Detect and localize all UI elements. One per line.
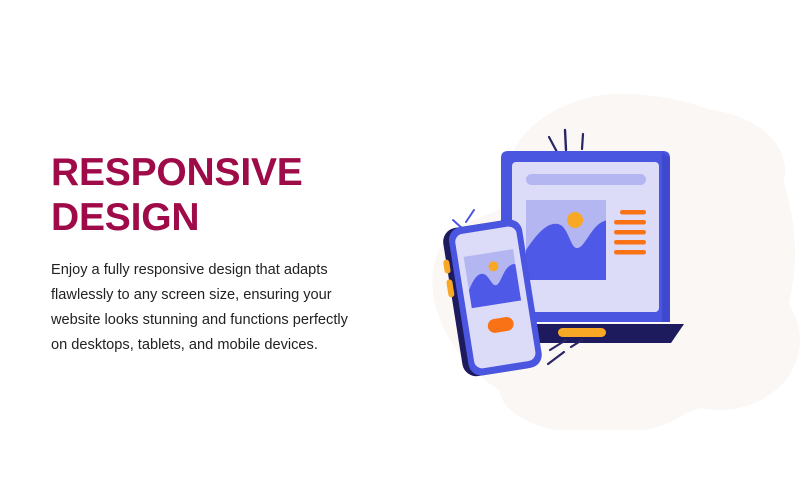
responsive-devices-illustration: [430, 100, 740, 390]
hero-description: Enjoy a fully responsive design that ada…: [51, 258, 363, 358]
sparkle-lines-top: [549, 130, 583, 152]
sparkle-lines-bottom: [548, 340, 582, 364]
hero-section: RESPONSIVE DESIGN Enjoy a fully responsi…: [0, 0, 800, 500]
image-placeholder: [526, 200, 608, 280]
phone-image-placeholder: [464, 249, 522, 308]
page-title: RESPONSIVE DESIGN: [51, 150, 371, 240]
sun-icon: [567, 212, 583, 228]
trackpad-bar: [558, 328, 606, 337]
browser-address-bar: [526, 174, 646, 185]
hero-text-column: RESPONSIVE DESIGN Enjoy a fully responsi…: [51, 150, 371, 358]
